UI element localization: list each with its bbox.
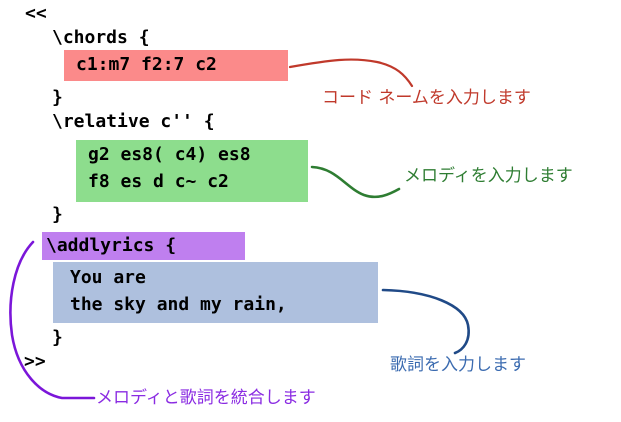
code-line-relative-open: \relative c'' { <box>52 110 215 133</box>
code-line-addlyrics-open: \addlyrics { <box>46 234 176 257</box>
code-line-melody-second: f8 es d c~ c2 <box>88 170 229 193</box>
code-line-addlyrics-close: } <box>52 326 63 349</box>
chords-annotation-label: コード ネームを入力します <box>322 88 531 109</box>
code-line-melody-first: g2 es8( c4) es8 <box>88 143 251 166</box>
code-line-chords-open: \chords { <box>52 26 150 49</box>
code-line-open-simultaneous: << <box>25 2 47 25</box>
code-line-chords-body: c1:m7 f2:7 c2 <box>76 53 217 76</box>
code-line-close-simultaneous: >> <box>24 350 46 373</box>
slide-canvas: << \chords { c1:m7 f2:7 c2 } \relative c… <box>0 0 621 422</box>
merge-annotation-label: メロディと歌詞を統合します <box>96 388 316 409</box>
lyrics-annotation-label: 歌詞を入力します <box>390 355 526 376</box>
lilypond-code-block: << \chords { c1:m7 f2:7 c2 } \relative c… <box>0 0 621 422</box>
melody-annotation-label: メロディを入力します <box>404 166 573 187</box>
code-line-relative-close: } <box>52 203 63 226</box>
code-line-chords-close: } <box>52 86 63 109</box>
code-line-lyrics-first: You are <box>70 266 146 289</box>
code-line-lyrics-second: the sky and my rain, <box>70 293 287 316</box>
